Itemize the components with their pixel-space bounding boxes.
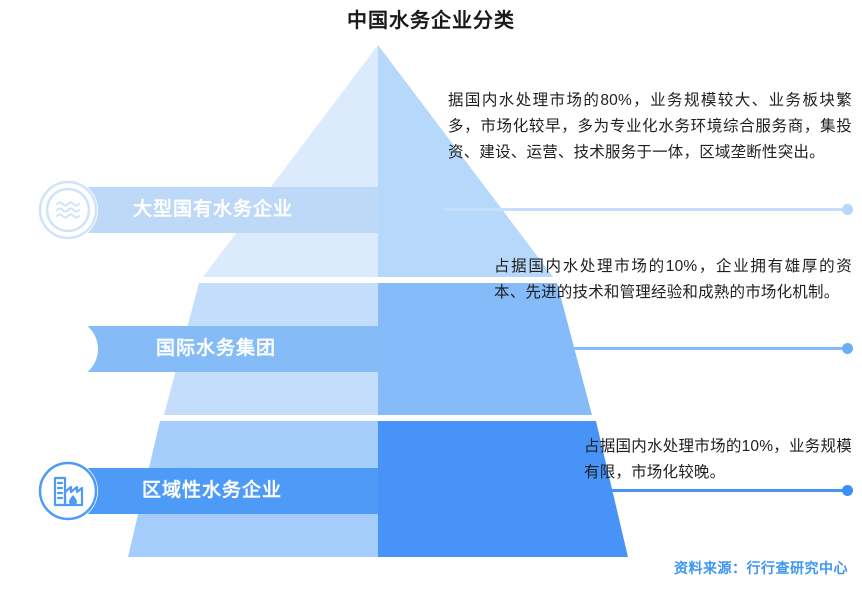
tier-2-connector-line [476, 347, 844, 350]
tier-1-label: 大型国有水务企业 [133, 187, 293, 233]
tier-3-connector-line [566, 489, 844, 492]
tier-2-connector-dot [842, 343, 853, 354]
source-note: 资料来源：行行查研究中心 [674, 558, 848, 578]
tier-1-description: 据国内水处理市场的80%，业务规模较大、业务板块繁多，市场化较早，多为专业化水务… [448, 88, 852, 166]
tier-3-label-pill[interactable]: 区域性水务企业 [68, 468, 378, 514]
tier-1-connector-dot [842, 204, 853, 215]
tier-1-label-pill[interactable]: 大型国有水务企业 [68, 187, 378, 233]
tier-2-description: 占据国内水处理市场的10%，企业拥有雄厚的资本、先进的技术和管理经验和成熟的市场… [494, 254, 852, 306]
water-waves-icon [38, 180, 98, 240]
tier-3-description: 占据国内水处理市场的10%，业务规模有限，市场化较晚。 [584, 434, 852, 486]
tier-3-connector-dot [842, 485, 853, 496]
tier-2-label-pill[interactable]: 国际水务集团 [68, 326, 378, 372]
infographic-canvas: 中国水务企业分类 大型国有水务企业 据国内水处理市场的80%，业务规模较大、业务… [0, 0, 862, 592]
wave-lines-icon [38, 319, 98, 379]
tier-2-label: 国际水务集团 [156, 326, 276, 372]
pyramid-tier-1-left [203, 45, 378, 277]
tier-1-connector-line [444, 208, 844, 211]
tier-3-label: 区域性水务企业 [142, 468, 282, 514]
factory-waterdrop-icon [38, 461, 98, 521]
